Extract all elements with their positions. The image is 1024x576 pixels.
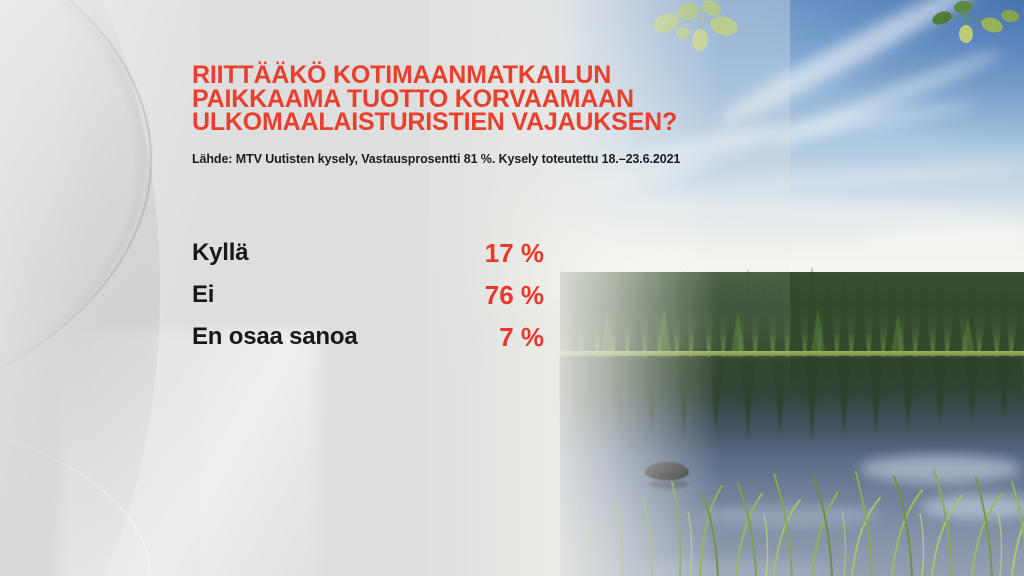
page-title: RIITTÄÄKÖ KOTIMAANMATKAILUN PAIKKAAMA TU… bbox=[192, 64, 732, 135]
news-graphic-stage: RIITTÄÄKÖ KOTIMAANMATKAILUN PAIKKAAMA TU… bbox=[0, 0, 1024, 576]
poll-results: Kyllä 17 % Ei 76 % En osaa sanoa 7 % bbox=[192, 238, 544, 364]
result-value: 76 % bbox=[485, 280, 544, 310]
source-note: Lähde: MTV Uutisten kysely, Vastausprose… bbox=[192, 152, 680, 166]
title-line-3: ULKOMAALAISTURISTIEN VAJAUKSEN? bbox=[192, 111, 732, 135]
result-row: Kyllä 17 % bbox=[192, 238, 544, 280]
result-label: Kyllä bbox=[192, 238, 248, 268]
result-value: 7 % bbox=[499, 322, 544, 352]
result-value: 17 % bbox=[485, 238, 544, 268]
graphic-content: RIITTÄÄKÖ KOTIMAANMATKAILUN PAIKKAAMA TU… bbox=[0, 0, 1024, 576]
result-row: Ei 76 % bbox=[192, 280, 544, 322]
result-label: Ei bbox=[192, 280, 214, 310]
result-label: En osaa sanoa bbox=[192, 322, 357, 352]
result-row: En osaa sanoa 7 % bbox=[192, 322, 544, 364]
title-line-1: RIITTÄÄKÖ KOTIMAANMATKAILUN bbox=[192, 64, 732, 88]
